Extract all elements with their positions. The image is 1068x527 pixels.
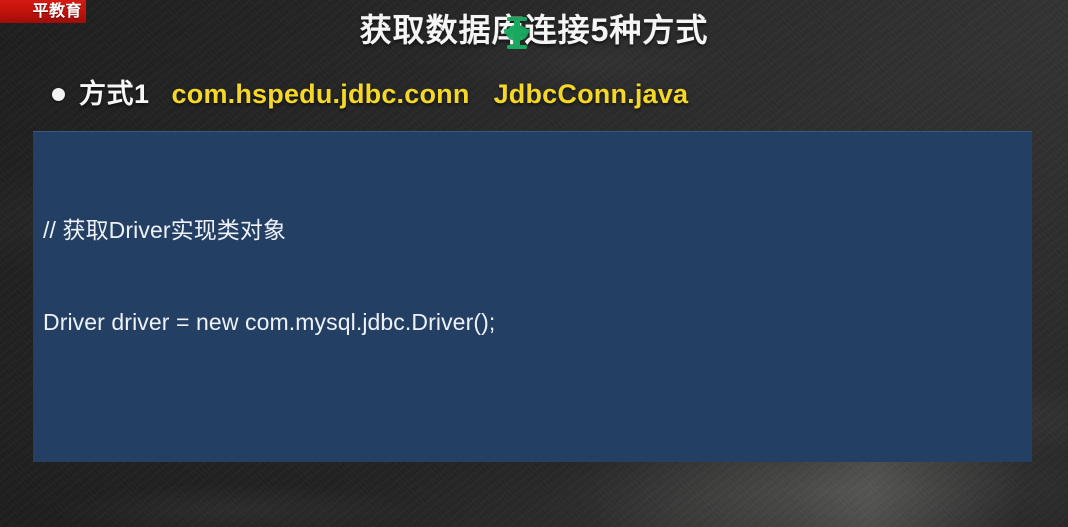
code-line: // 获取Driver实现类对象 (43, 215, 1032, 246)
presentation-slide: 平教育 获取数据库连接5种方式 方式1 com.hspedu.jdbc.conn… (0, 0, 1068, 527)
bullet-line: 方式1 com.hspedu.jdbc.conn JdbcConn.java (52, 80, 688, 110)
bullet-file-name: JdbcConn.java (494, 80, 689, 110)
bullet-label: 方式1 (79, 80, 150, 110)
page-title: 获取数据库连接5种方式 (0, 12, 1068, 50)
code-line: Driver driver = new com.mysql.jdbc.Drive… (43, 307, 1032, 338)
code-block-lines: // 获取Driver实现类对象 Driver driver = new com… (43, 154, 1032, 462)
page-title-text: 获取数据库连接5种方式 (360, 12, 709, 50)
bullet-package-path: com.hspedu.jdbc.conn (172, 80, 470, 110)
code-block: // 获取Driver实现类对象 Driver driver = new com… (33, 131, 1032, 462)
brand-banner-label: 平教育 (32, 4, 82, 20)
brand-banner: 平教育 (0, 0, 86, 23)
code-line-blank (43, 398, 1032, 429)
bullet-dot-icon (52, 88, 65, 101)
